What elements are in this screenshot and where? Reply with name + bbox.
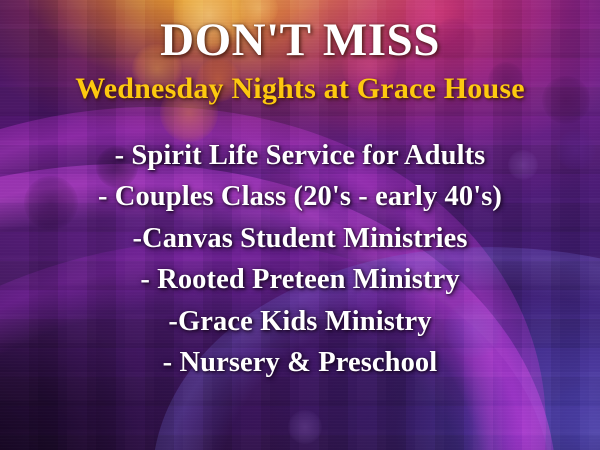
list-item: - Nursery & Preschool [0,342,600,383]
event-list: - Spirit Life Service for Adults - Coupl… [0,135,600,384]
announcement-slide: DON'T MISS Wednesday Nights at Grace Hou… [0,0,600,450]
slide-title: DON'T MISS [0,0,600,66]
list-item: - Rooted Preteen Ministry [0,259,600,300]
list-item: - Couples Class (20's - early 40's) [0,176,600,217]
list-item: - Spirit Life Service for Adults [0,135,600,176]
list-item: -Grace Kids Ministry [0,301,600,342]
list-item: -Canvas Student Ministries [0,218,600,259]
slide-content: DON'T MISS Wednesday Nights at Grace Hou… [0,0,600,450]
slide-subtitle: Wednesday Nights at Grace House [0,66,600,105]
